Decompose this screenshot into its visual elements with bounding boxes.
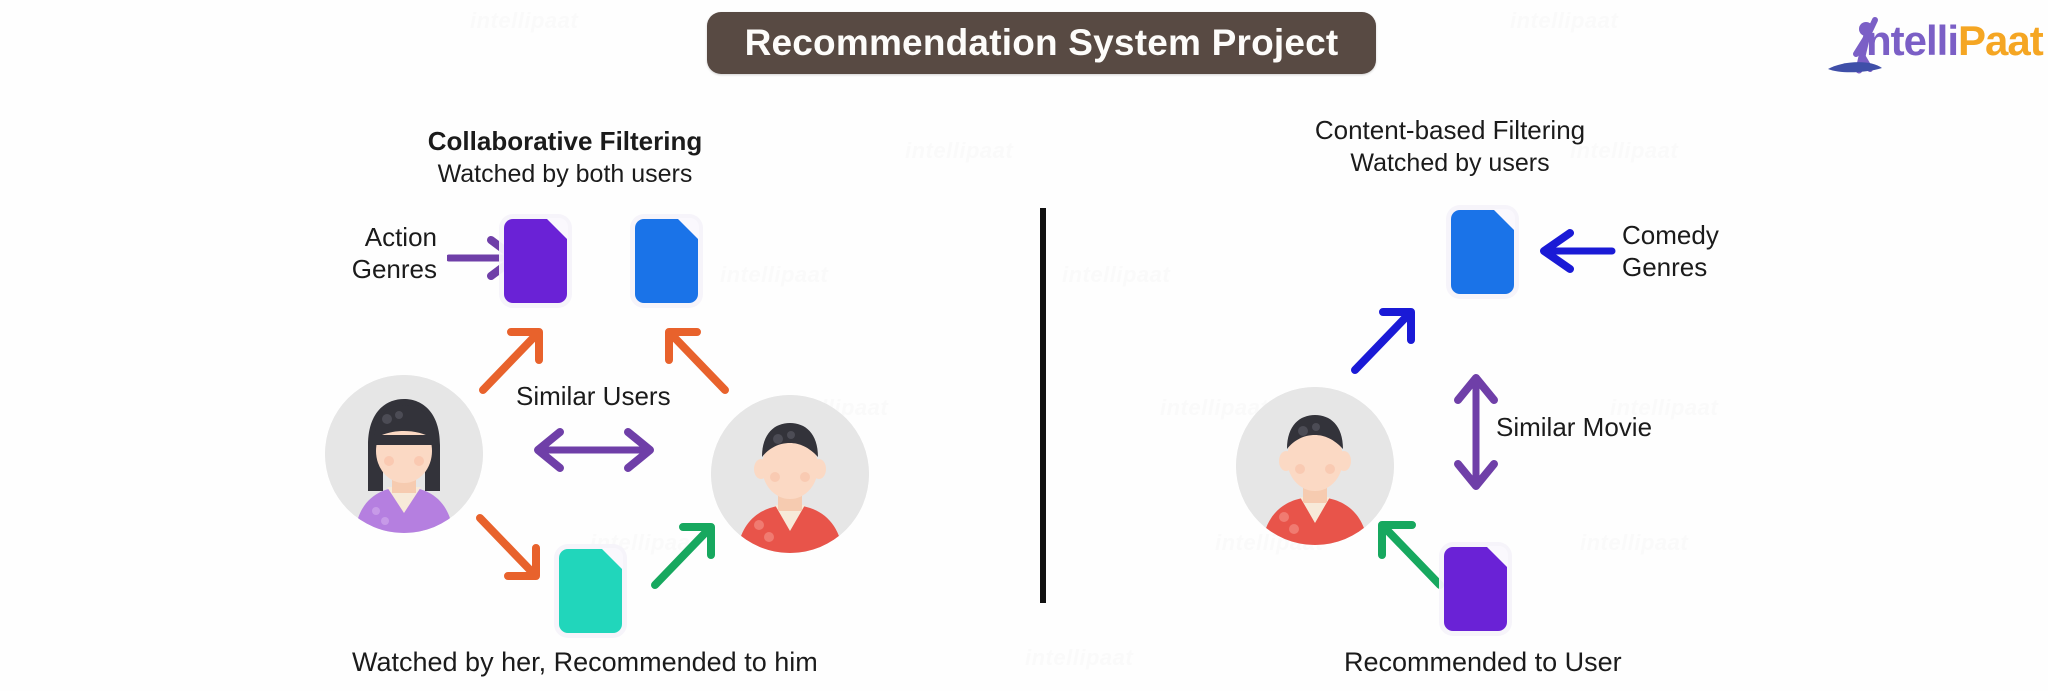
blue-document-icon [1451,210,1514,294]
title-banner: Recommendation System Project [707,12,1376,74]
watermark: intellipaat [1510,8,1618,34]
similar-users-double-arrow-icon [528,422,660,478]
purple-document-icon [504,219,567,303]
watched-by-users-arrow-icon [1345,300,1425,380]
right-caption: Recommended to User [1344,645,1622,679]
action-genres-label-line1: Action [307,222,437,254]
watermark: intellipaat [1025,645,1133,671]
comedy-genres-label-line1: Comedy [1622,220,1772,252]
recommended-to-user-arrow-icon [1370,515,1450,595]
watermark: intellipaat [1062,262,1170,288]
infographic-canvas: intellipaat intellipaat intellipaat inte… [0,0,2048,691]
watermark: intellipaat [470,8,578,34]
intellipaat-logo[interactable]: ntelliPaat [1826,12,2036,74]
purple-document-icon [1444,547,1507,631]
comedy-genres-label: Comedy Genres [1622,220,1772,283]
male-avatar-illustration [711,395,869,553]
logo-text-secondary: Paat [1958,17,2043,64]
watermark: intellipaat [1580,530,1688,556]
male-user-avatar [711,395,869,553]
heading-line-1: Content-based Filtering [1215,113,1685,147]
blue-document-icon [635,219,698,303]
heading-line-2: Watched by both users [330,158,800,191]
heading-line-2: Watched by users [1215,147,1685,180]
watermark: intellipaat [720,262,828,288]
page-title: Recommendation System Project [745,22,1339,64]
female-user-avatar [325,375,483,533]
vertical-divider [1040,208,1046,603]
watched-by-her-arrow-icon [470,510,550,590]
watermark: intellipaat [905,138,1013,164]
logo-text-primary: ntelli [1866,17,1958,64]
content-based-filtering-heading: Content-based Filtering Watched by users [1215,113,1685,180]
action-genres-label-line2: Genres [307,254,437,286]
left-caption: Watched by her, Recommended to him [352,645,818,679]
action-genres-label: Action Genres [307,222,437,285]
teal-document-icon [559,549,622,633]
logo-text: ntelliPaat [1866,18,2043,64]
similar-users-label: Similar Users [516,380,671,413]
female-avatar-illustration [325,375,483,533]
collaborative-filtering-heading: Collaborative Filtering Watched by both … [330,124,800,191]
recommended-to-him-arrow-icon [645,515,725,595]
similar-movie-label: Similar Movie [1496,411,1652,444]
comedy-genres-label-line2: Genres [1622,252,1772,284]
heading-line-1: Collaborative Filtering [330,124,800,158]
comedy-genre-arrow-icon [1530,227,1620,275]
